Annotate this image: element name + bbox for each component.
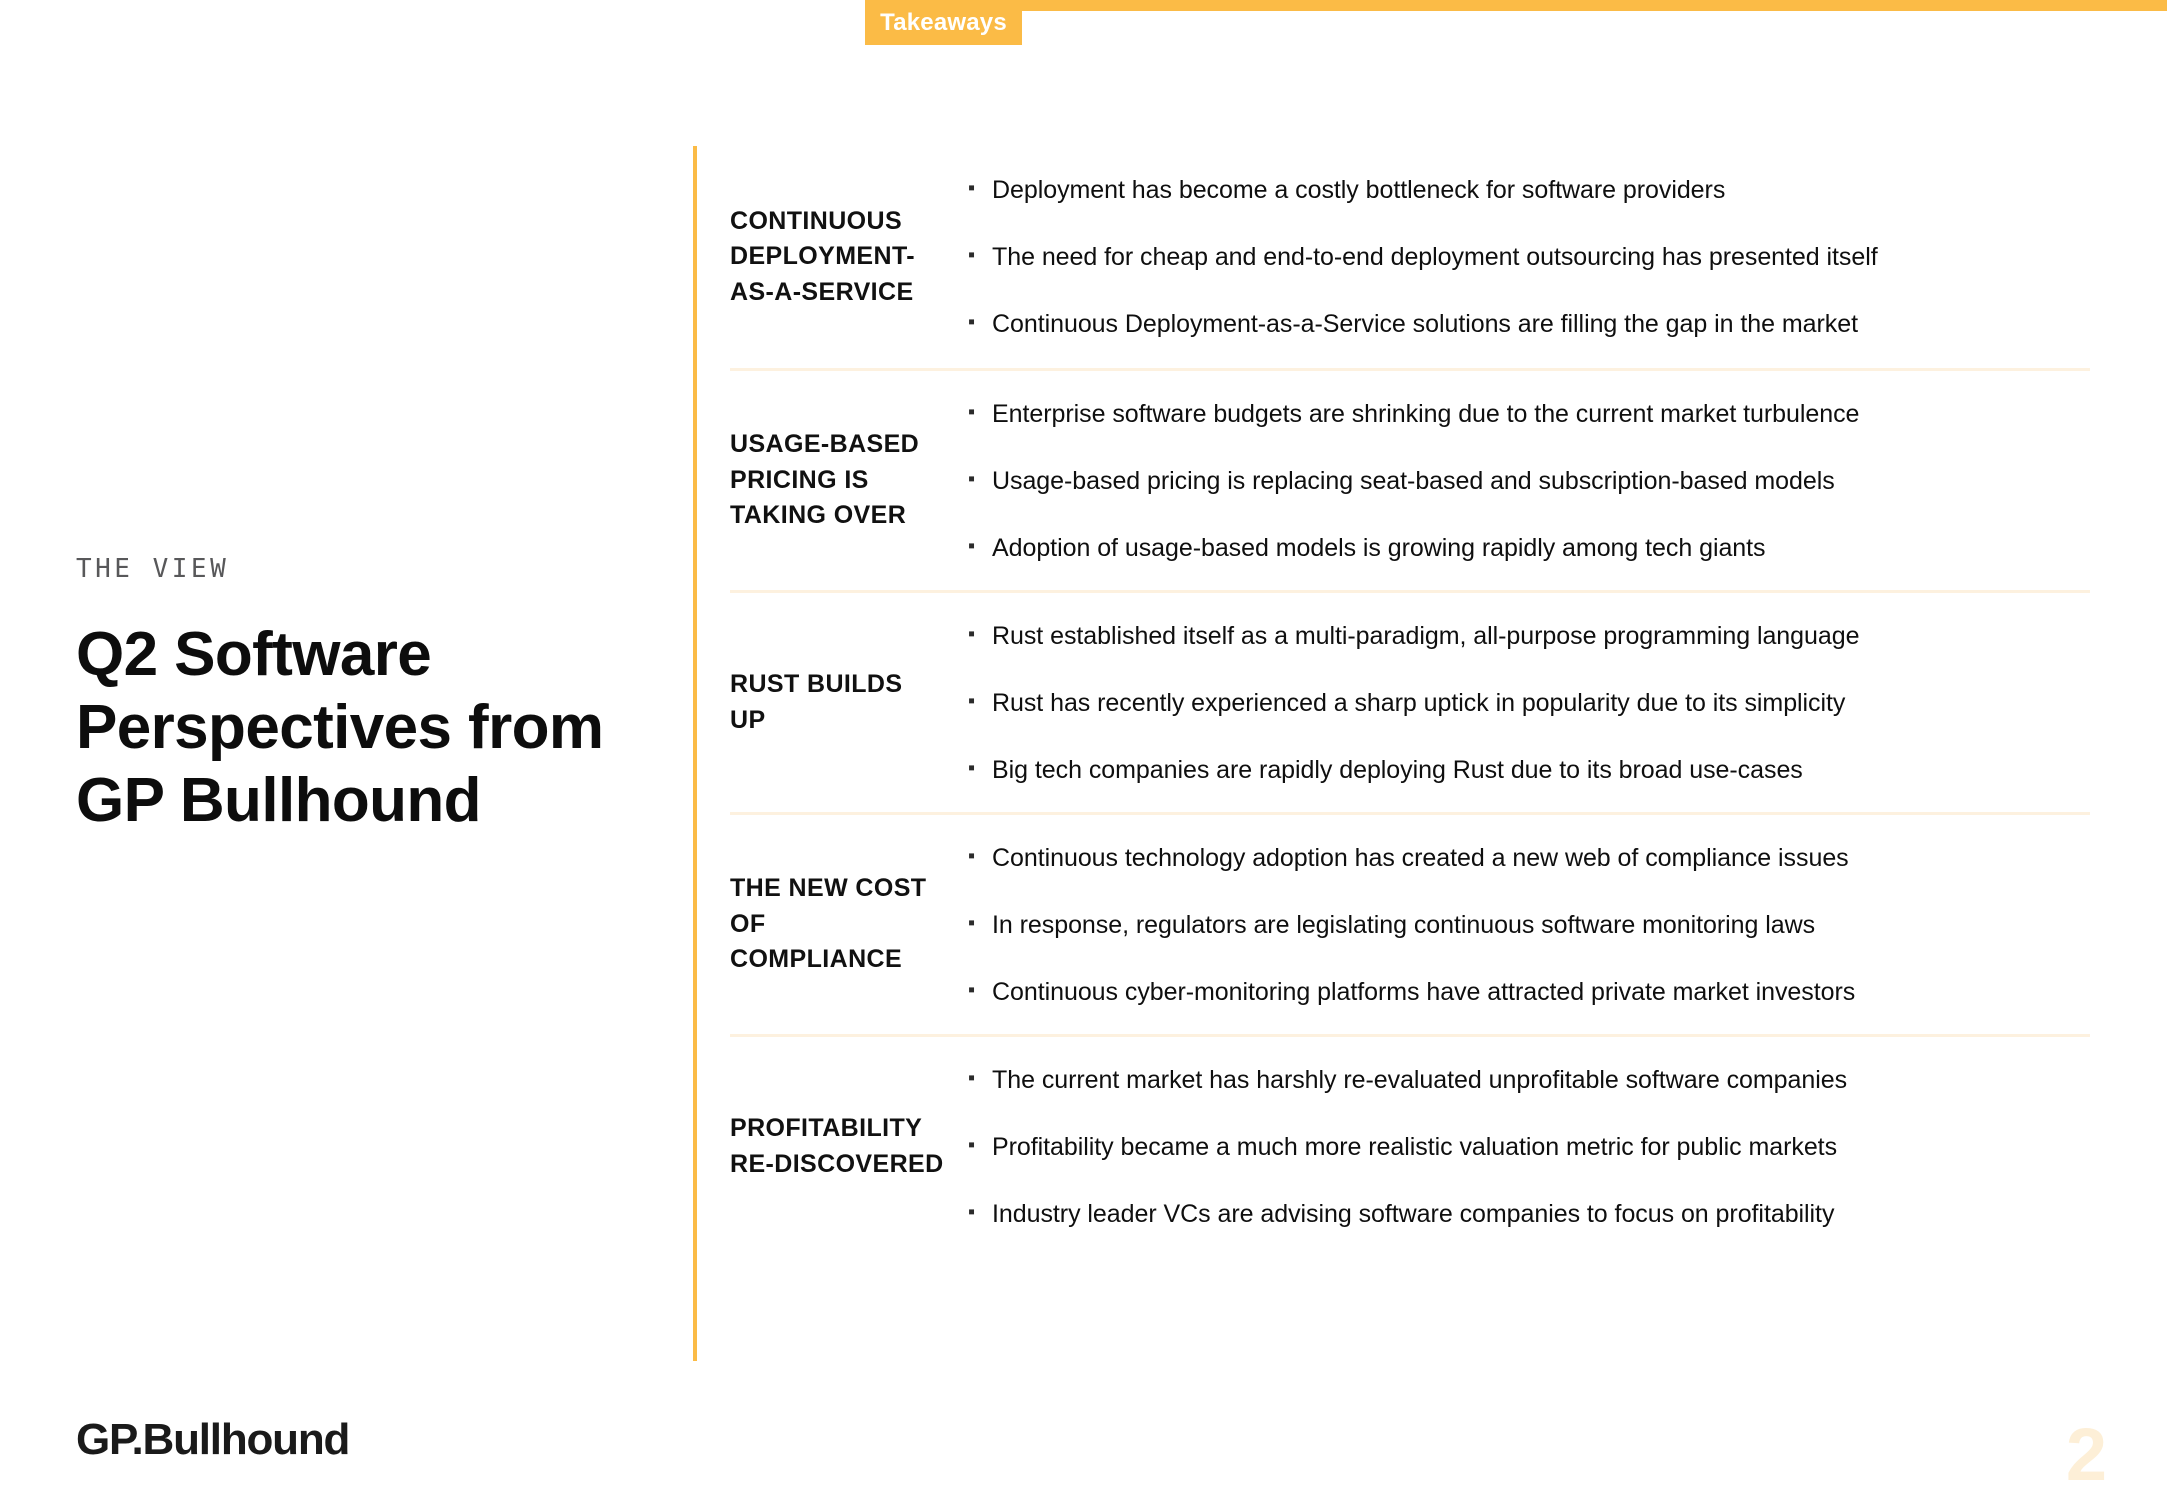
square-bullet-icon: ▪ [968, 1065, 992, 1092]
square-bullet-icon: ▪ [968, 1199, 992, 1226]
takeaway-bullets: ▪ Deployment has become a costly bottlen… [962, 175, 2090, 339]
header-accent-strip [865, 0, 2167, 11]
list-item-text: Profitability became a much more realist… [992, 1132, 2090, 1162]
list-item-text: Industry leader VCs are advising softwar… [992, 1199, 2090, 1229]
section-tab-label: Takeaways [880, 11, 1007, 35]
takeaway-section: USAGE-BASED PRICING IS TAKING OVER ▪ Ent… [730, 368, 2090, 590]
eyebrow-label: THE VIEW [76, 556, 676, 582]
list-item-text: Adoption of usage-based models is growin… [992, 533, 2090, 563]
list-item: ▪ The current market has harshly re-eval… [968, 1065, 2090, 1095]
content-vertical-rule [693, 146, 697, 1361]
list-item: ▪ The need for cheap and end-to-end depl… [968, 242, 2090, 272]
list-item-text: The current market has harshly re-evalua… [992, 1065, 2090, 1095]
square-bullet-icon: ▪ [968, 1132, 992, 1159]
list-item-text: In response, regulators are legislating … [992, 910, 2090, 940]
takeaways-list: CONTINUOUS DEPLOYMENT-AS-A-SERVICE ▪ Dep… [730, 146, 2090, 1256]
list-item-text: Enterprise software budgets are shrinkin… [992, 399, 2090, 429]
page-title: Q2 Software Perspectives from GP Bullhou… [76, 618, 676, 837]
square-bullet-icon: ▪ [968, 242, 992, 269]
list-item-text: Big tech companies are rapidly deploying… [992, 755, 2090, 785]
list-item: ▪ Continuous Deployment-as-a-Service sol… [968, 309, 2090, 339]
takeaway-bullets: ▪ Enterprise software budgets are shrink… [962, 399, 2090, 563]
takeaway-section: RUST BUILDS UP ▪ Rust established itself… [730, 590, 2090, 812]
list-item: ▪ Deployment has become a costly bottlen… [968, 175, 2090, 205]
square-bullet-icon: ▪ [968, 910, 992, 937]
list-item: ▪ Enterprise software budgets are shrink… [968, 399, 2090, 429]
square-bullet-icon: ▪ [968, 399, 992, 426]
list-item: ▪ Rust established itself as a multi-par… [968, 621, 2090, 651]
square-bullet-icon: ▪ [968, 533, 992, 560]
takeaway-heading: PROFITABILITY RE-DISCOVERED [730, 1111, 962, 1182]
slide-canvas: Takeaways THE VIEW Q2 Software Perspecti… [0, 0, 2167, 1500]
takeaway-bullets: ▪ The current market has harshly re-eval… [962, 1065, 2090, 1229]
list-item-text: Rust has recently experienced a sharp up… [992, 688, 2090, 718]
page-number: 2 [2066, 1418, 2107, 1492]
takeaway-heading: USAGE-BASED PRICING IS TAKING OVER [730, 427, 962, 534]
square-bullet-icon: ▪ [968, 466, 992, 493]
list-item: ▪ Continuous cyber-monitoring platforms … [968, 977, 2090, 1007]
list-item: ▪ Continuous technology adoption has cre… [968, 843, 2090, 873]
takeaway-bullets: ▪ Rust established itself as a multi-par… [962, 621, 2090, 785]
list-item: ▪ Rust has recently experienced a sharp … [968, 688, 2090, 718]
brand-logo: GP.Bullhound [76, 1418, 349, 1462]
title-block: THE VIEW Q2 Software Perspectives from G… [76, 556, 676, 837]
takeaway-heading: CONTINUOUS DEPLOYMENT-AS-A-SERVICE [730, 204, 962, 311]
section-tab-takeaways[interactable]: Takeaways [865, 0, 1022, 45]
square-bullet-icon: ▪ [968, 309, 992, 336]
list-item-text: Usage-based pricing is replacing seat-ba… [992, 466, 2090, 496]
list-item: ▪ Big tech companies are rapidly deployi… [968, 755, 2090, 785]
takeaway-section: THE NEW COST OF COMPLIANCE ▪ Continuous … [730, 812, 2090, 1034]
list-item-text: Continuous Deployment-as-a-Service solut… [992, 309, 2090, 339]
list-item: ▪ Adoption of usage-based models is grow… [968, 533, 2090, 563]
square-bullet-icon: ▪ [968, 175, 992, 202]
list-item-text: Deployment has become a costly bottlenec… [992, 175, 2090, 205]
list-item: ▪ Industry leader VCs are advising softw… [968, 1199, 2090, 1229]
square-bullet-icon: ▪ [968, 977, 992, 1004]
square-bullet-icon: ▪ [968, 688, 992, 715]
square-bullet-icon: ▪ [968, 843, 992, 870]
list-item-text: The need for cheap and end-to-end deploy… [992, 242, 2090, 272]
takeaway-heading: THE NEW COST OF COMPLIANCE [730, 871, 962, 978]
takeaway-section: PROFITABILITY RE-DISCOVERED ▪ The curren… [730, 1034, 2090, 1256]
square-bullet-icon: ▪ [968, 755, 992, 782]
square-bullet-icon: ▪ [968, 621, 992, 648]
list-item: ▪ Usage-based pricing is replacing seat-… [968, 466, 2090, 496]
list-item-text: Continuous cyber-monitoring platforms ha… [992, 977, 2090, 1007]
list-item-text: Continuous technology adoption has creat… [992, 843, 2090, 873]
list-item-text: Rust established itself as a multi-parad… [992, 621, 2090, 651]
takeaway-heading: RUST BUILDS UP [730, 667, 962, 738]
list-item: ▪ In response, regulators are legislatin… [968, 910, 2090, 940]
list-item: ▪ Profitability became a much more reali… [968, 1132, 2090, 1162]
takeaway-bullets: ▪ Continuous technology adoption has cre… [962, 843, 2090, 1007]
takeaway-section: CONTINUOUS DEPLOYMENT-AS-A-SERVICE ▪ Dep… [730, 146, 2090, 368]
